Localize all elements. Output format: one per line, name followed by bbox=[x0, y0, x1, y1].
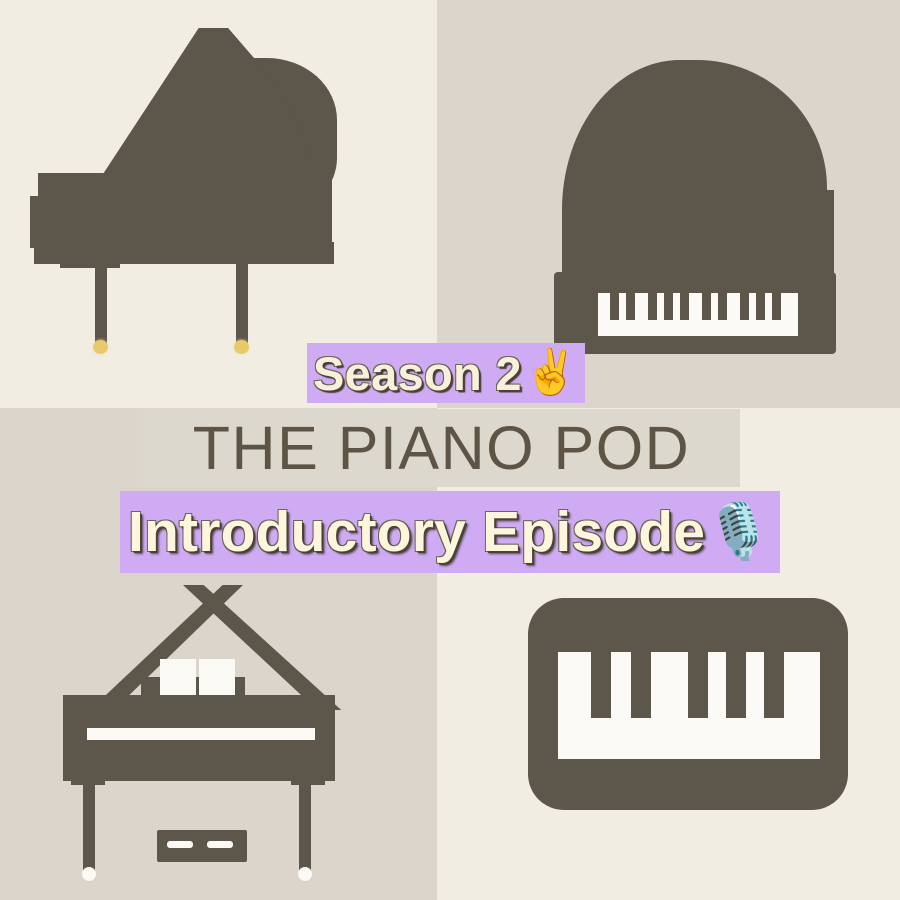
piano-black-key bbox=[702, 293, 711, 320]
episode-banner: Introductory Episode 🎙️ bbox=[120, 491, 780, 573]
piano-leg-right bbox=[299, 781, 311, 871]
keyboard-tile-icon bbox=[528, 598, 848, 810]
piano-black-key bbox=[664, 293, 673, 320]
season-banner: Season 2 ✌️ bbox=[307, 343, 585, 403]
piano-black-key bbox=[772, 293, 781, 320]
piano-black-key bbox=[610, 293, 619, 320]
season-label: Season 2 bbox=[313, 350, 522, 397]
piano-base-step bbox=[60, 256, 120, 268]
piano-black-key bbox=[740, 293, 749, 320]
piano-pedal-left bbox=[167, 841, 193, 848]
studio-microphone-emoji: 🎙️ bbox=[705, 505, 772, 559]
episode-label: Introductory Episode bbox=[128, 504, 705, 561]
piano-black-key bbox=[680, 293, 689, 320]
show-title-banner: THE PIANO POD bbox=[143, 409, 740, 487]
victory-hand-emoji: ✌️ bbox=[524, 351, 579, 395]
piano-caster-right bbox=[298, 867, 312, 881]
keyboard-black-key bbox=[726, 652, 746, 718]
piano-leg-left bbox=[83, 781, 95, 871]
piano-leg-right bbox=[236, 258, 248, 344]
piano-pedal-right bbox=[207, 841, 233, 848]
podcast-cover-art: Season 2 ✌️ THE PIANO POD Introductory E… bbox=[0, 0, 900, 900]
grand-piano-side-view-icon bbox=[30, 28, 360, 388]
piano-caster-left bbox=[82, 867, 96, 881]
piano-caster-right bbox=[234, 340, 249, 354]
piano-keyboard-strip bbox=[87, 728, 315, 740]
piano-black-key bbox=[756, 293, 765, 320]
keyboard-black-key bbox=[688, 652, 708, 718]
keyboard-black-key bbox=[631, 652, 651, 718]
grand-piano-front-view-icon bbox=[35, 585, 380, 885]
keyboard-black-key bbox=[764, 652, 784, 718]
keyboard-black-key bbox=[591, 652, 611, 718]
piano-black-key bbox=[718, 293, 727, 320]
show-title: THE PIANO POD bbox=[193, 418, 690, 479]
piano-keybed-nose bbox=[30, 196, 70, 248]
piano-leg-left bbox=[95, 258, 107, 344]
piano-black-key bbox=[626, 293, 635, 320]
grand-piano-top-view-icon bbox=[548, 60, 848, 360]
piano-caster-left bbox=[93, 340, 108, 354]
piano-black-key bbox=[648, 293, 657, 320]
